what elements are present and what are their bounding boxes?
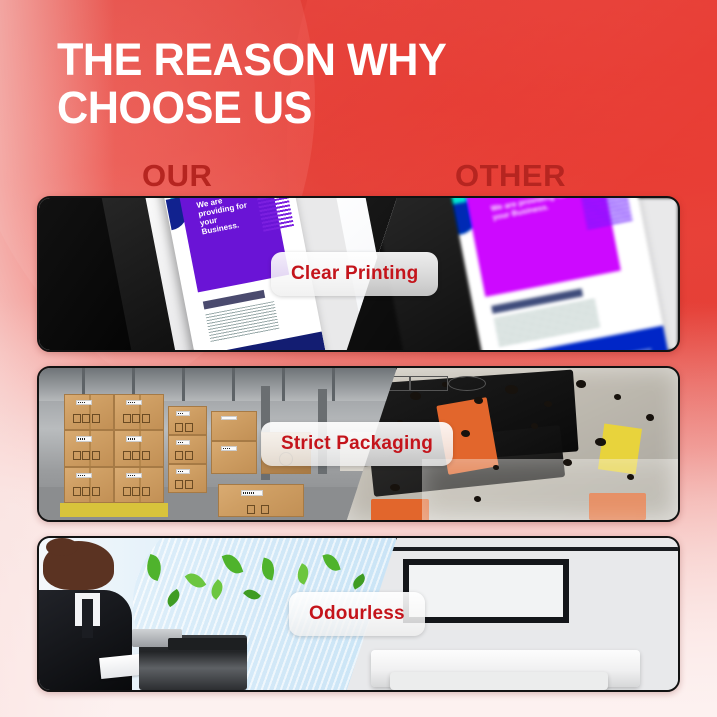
- comparison-rows: We are providing for your Business.: [37, 196, 680, 706]
- carton-box: [168, 406, 207, 435]
- brochure-headline-text: We are providing for your Business.: [196, 198, 258, 237]
- page-title: THE REASON WHY CHOOSE US: [57, 36, 556, 132]
- badge-odourless: Odourless: [289, 592, 425, 636]
- carton-box: [211, 441, 258, 474]
- column-label-our: OUR: [142, 158, 212, 194]
- carton-box: [114, 394, 164, 430]
- carton-box: [114, 467, 164, 503]
- comparison-row-printing: We are providing for your Business.: [37, 196, 680, 352]
- brochure-body-lines: [205, 302, 279, 343]
- orange-insert-2: [371, 499, 429, 520]
- carton-box: [114, 430, 164, 466]
- comparison-row-packaging: Strict Packaging: [37, 366, 680, 522]
- brochure-bar-graphic: [579, 198, 632, 229]
- comparison-row-odour: Odourless: [37, 536, 680, 692]
- woman-tie: [82, 599, 93, 639]
- carton-box: [64, 430, 114, 466]
- badge-clear-printing: Clear Printing: [271, 252, 438, 296]
- wall-picture-frame: [403, 559, 569, 623]
- printer-lid: [168, 638, 247, 650]
- carton-box: [211, 411, 258, 441]
- carton-box: [218, 484, 304, 517]
- carton-box: [64, 394, 114, 430]
- column-label-other: OTHER: [455, 158, 566, 194]
- brochure-headline-text: We are providing for your Business.: [490, 198, 575, 223]
- plastic-wrap-2: [422, 459, 678, 520]
- carton-box: [64, 467, 114, 503]
- printer-tray: [390, 672, 607, 690]
- carton-box: [168, 435, 207, 464]
- carton-box: [168, 464, 207, 493]
- badge-strict-packaging: Strict Packaging: [261, 422, 453, 466]
- pallet: [60, 503, 167, 517]
